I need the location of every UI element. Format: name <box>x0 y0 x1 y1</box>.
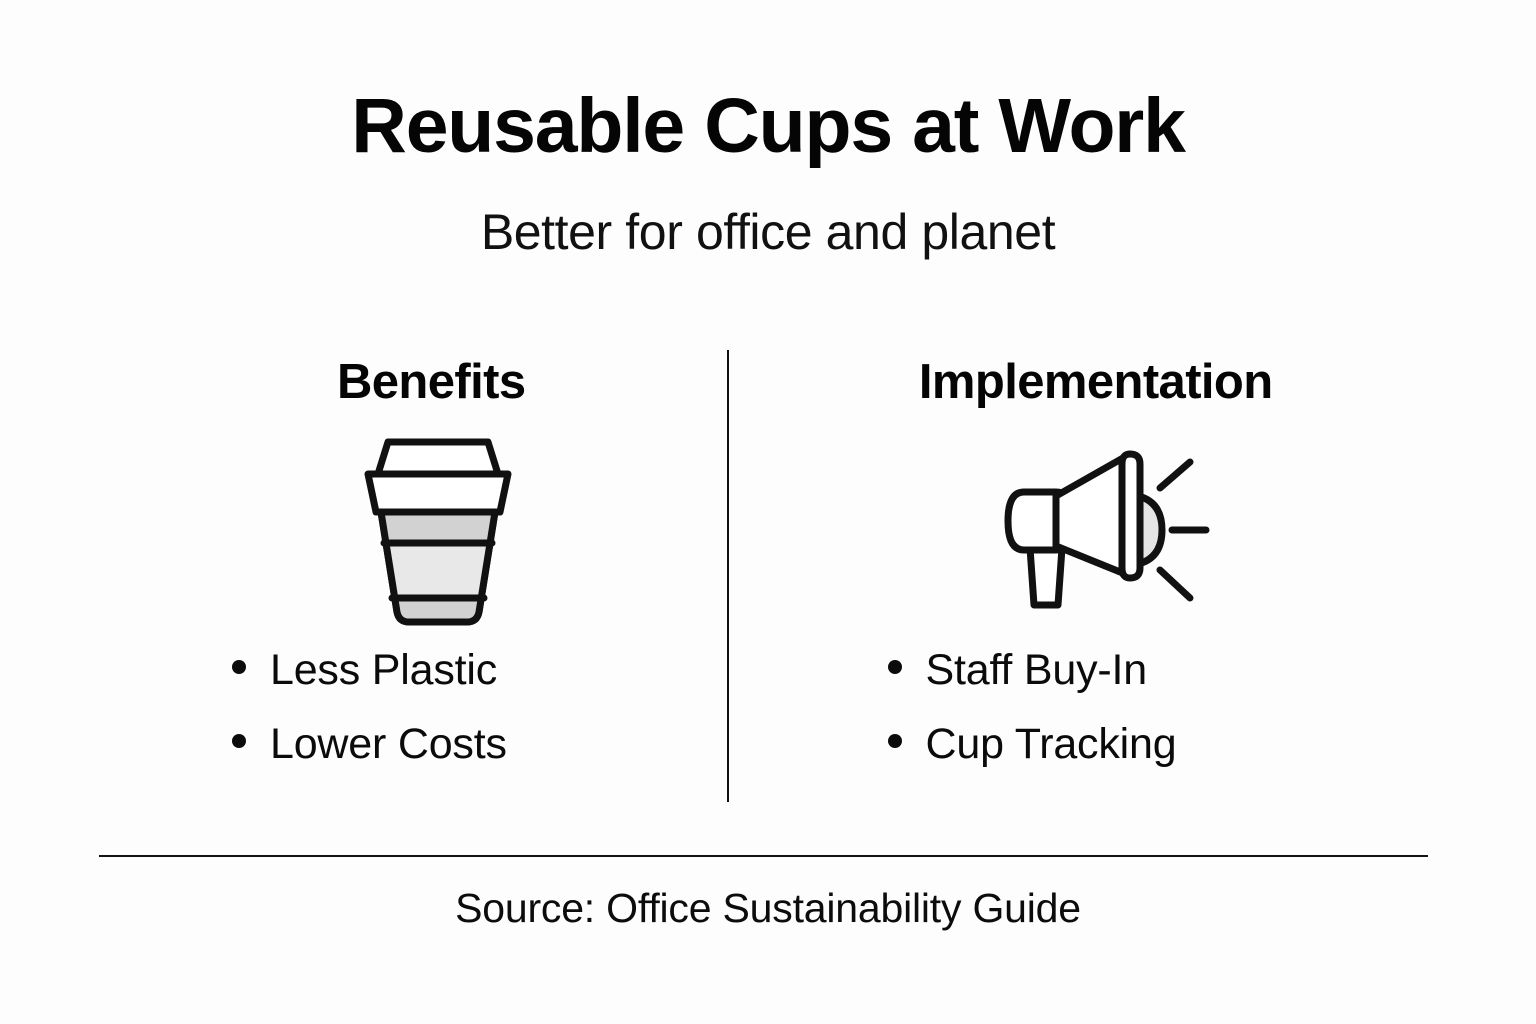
column-implementation: Implementation <box>764 348 1429 803</box>
bullet-label: Staff Buy-In <box>926 649 1147 692</box>
bullet-list-implementation: Staff Buy-In Cup Tracking <box>888 649 1177 797</box>
page-title: Reusable Cups at Work <box>0 88 1536 165</box>
list-item: Cup Tracking <box>888 723 1177 766</box>
bullet-dot-icon <box>888 734 902 748</box>
header: Reusable Cups at Work Better for office … <box>0 88 1536 257</box>
list-item: Less Plastic <box>232 649 507 692</box>
bullet-dot-icon <box>232 734 246 748</box>
column-heading-implementation: Implementation <box>919 348 1273 407</box>
bullet-dot-icon <box>232 660 246 674</box>
column-benefits: Benefits <box>99 348 764 803</box>
list-item: Staff Buy-In <box>888 649 1177 692</box>
bullet-list-benefits: Less Plastic Lower Costs <box>232 649 507 797</box>
bullet-label: Lower Costs <box>270 723 507 766</box>
megaphone-icon <box>968 425 1224 635</box>
bullet-label: Cup Tracking <box>926 723 1177 766</box>
source-caption: Source: Office Sustainability Guide <box>0 885 1536 932</box>
column-divider <box>727 350 729 802</box>
slide-canvas: Reusable Cups at Work Better for office … <box>0 0 1536 1024</box>
footer-rule <box>99 855 1428 857</box>
bullet-label: Less Plastic <box>270 649 497 692</box>
content-columns: Benefits <box>99 348 1428 803</box>
bullet-dot-icon <box>888 660 902 674</box>
page-subtitle: Better for office and planet <box>0 165 1536 257</box>
column-heading-benefits: Benefits <box>337 348 526 407</box>
coffee-cup-icon <box>334 425 528 635</box>
list-item: Lower Costs <box>232 723 507 766</box>
